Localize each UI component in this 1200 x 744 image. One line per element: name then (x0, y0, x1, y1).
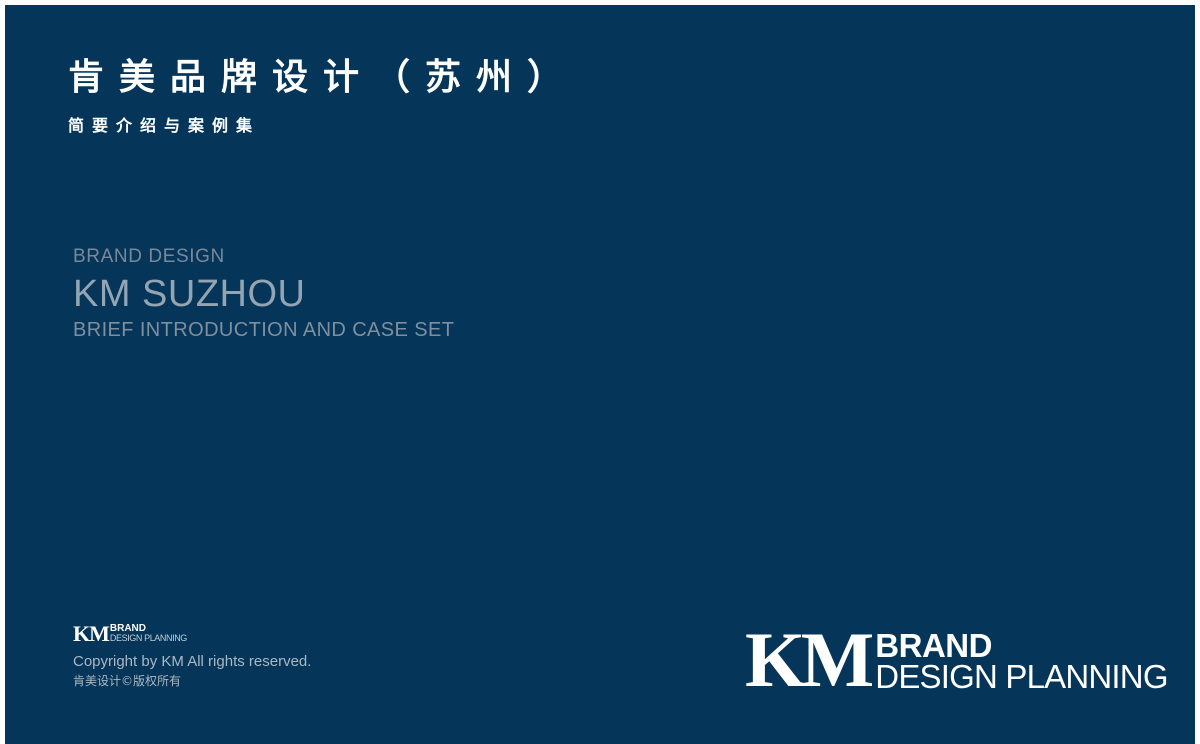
english-eyebrow: BRAND DESIGN (73, 245, 454, 269)
page-title: 肯美品牌设计（苏州） (68, 55, 578, 101)
brand-logo-monogram: KM (745, 627, 869, 693)
copyright-english: Copyright by KM All rights reserved. (73, 645, 311, 672)
brand-logo-line2: DESIGN PLANNING (875, 661, 1167, 693)
page-subtitle: 简要介绍与案例集 (68, 101, 578, 137)
brand-logo: KM BRAND DESIGN PLANNING (745, 625, 1168, 695)
brand-logo-line1: BRAND (875, 630, 1167, 661)
mini-logo-wordmark: BRAND DESIGN PLANNING (109, 623, 187, 643)
mini-logo-monogram: KM (73, 623, 109, 644)
mini-logo-line2: DESIGN PLANNING (110, 634, 187, 643)
mini-brand-logo: KM BRAND DESIGN PLANNING (73, 623, 311, 645)
english-title-block: BRAND DESIGN KM SUZHOU BRIEF INTRODUCTIO… (73, 245, 454, 343)
copyright-chinese: 肯美设计©版权所有 (73, 672, 311, 689)
slide-canvas: 肯美品牌设计（苏州） 简要介绍与案例集 BRAND DESIGN KM SUZH… (5, 5, 1195, 744)
headline-block: 肯美品牌设计（苏州） 简要介绍与案例集 (68, 55, 578, 137)
brand-logo-wordmark: BRAND DESIGN PLANNING (869, 628, 1167, 693)
footer-left-block: KM BRAND DESIGN PLANNING Copyright by KM… (73, 623, 311, 689)
english-subtitle: BRIEF INTRODUCTION AND CASE SET (73, 316, 454, 343)
english-main-title: KM SUZHOU (73, 269, 454, 316)
